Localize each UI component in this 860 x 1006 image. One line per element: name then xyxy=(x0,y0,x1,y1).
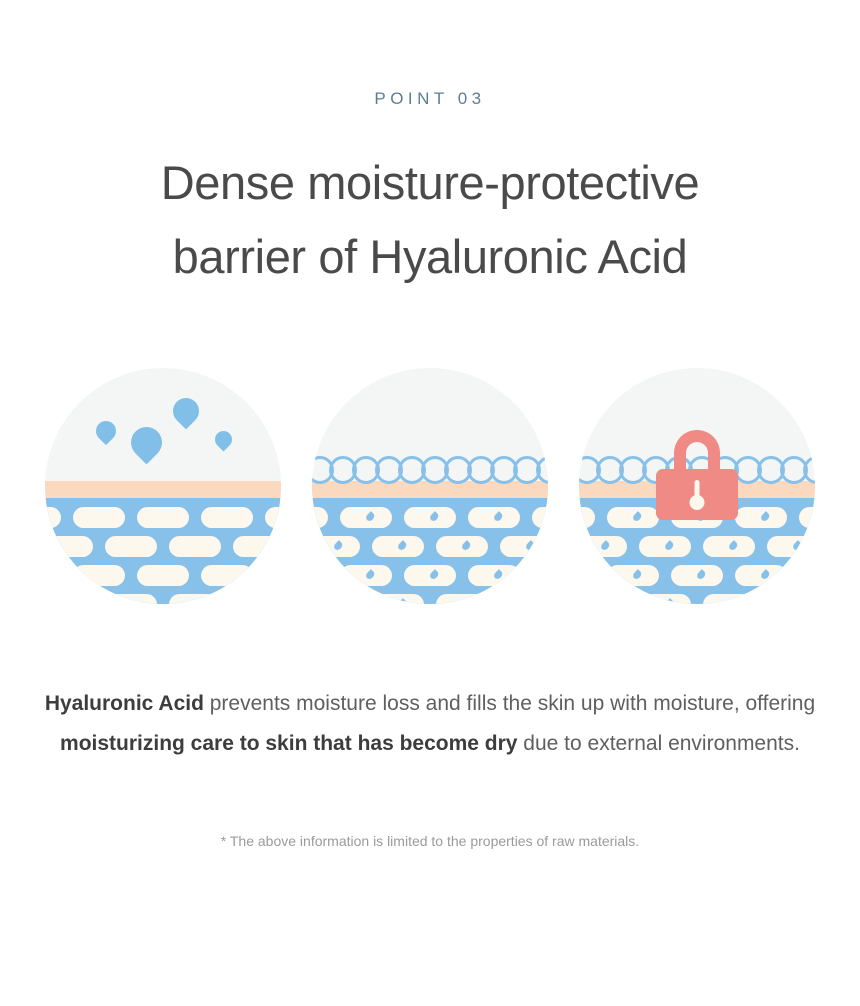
skin-cell xyxy=(579,565,595,586)
moisture-droplet-icon xyxy=(728,598,739,604)
skin-cell xyxy=(201,507,253,528)
skin-cell xyxy=(404,565,456,586)
moisture-droplet-icon xyxy=(397,598,408,604)
lock-keyhole xyxy=(690,495,705,510)
water-droplet-icon xyxy=(168,393,205,430)
skin-cell-row xyxy=(45,565,281,586)
moisture-droplet-icon xyxy=(792,598,803,604)
skin-cell xyxy=(532,507,548,528)
headline-line-1: Dense moisture-protective xyxy=(0,146,860,220)
water-droplet-icon xyxy=(92,417,120,445)
skin-cell xyxy=(607,507,659,528)
skin-cell xyxy=(372,536,424,557)
skin-cell xyxy=(372,594,424,604)
skin-cell-row xyxy=(312,594,548,604)
body-segment-0: Hyaluronic Acid xyxy=(45,692,204,715)
skin-cell xyxy=(201,565,253,586)
skin-cell xyxy=(73,565,125,586)
skin-cell xyxy=(312,565,328,586)
skin-cell xyxy=(639,594,691,604)
skin-cell xyxy=(340,565,392,586)
skin-cell xyxy=(137,507,189,528)
skin-cell xyxy=(45,594,93,604)
skin-cell xyxy=(312,536,360,557)
footnote-disclaimer: * The above information is limited to th… xyxy=(0,833,860,849)
product-detail-panel: POINT 03 Dense moisture-protective barri… xyxy=(0,0,860,1006)
skin-cell xyxy=(73,507,125,528)
skin-cell xyxy=(468,507,520,528)
skin-cell xyxy=(735,507,787,528)
headline-line-2: barrier of Hyaluronic Acid xyxy=(0,220,860,294)
moisture-droplet-icon xyxy=(365,511,376,522)
skin-cell xyxy=(105,536,157,557)
skin-cell-row xyxy=(312,565,548,586)
body-segment-2: moisturizing care to skin that has becom… xyxy=(60,732,517,755)
body-description: Hyaluronic Acid prevents moisture loss a… xyxy=(0,684,860,764)
skin-cell-row xyxy=(579,536,815,557)
moisture-droplet-icon xyxy=(461,598,472,604)
figure-locked xyxy=(579,368,815,604)
skin-cell-row xyxy=(312,507,548,528)
moisture-droplet-icon xyxy=(429,569,440,580)
skin-cell xyxy=(137,565,189,586)
hyaluronic-acid-chain xyxy=(312,456,548,484)
moisture-droplet-icon xyxy=(333,540,344,551)
moisture-droplet-icon xyxy=(525,540,536,551)
skin-cell xyxy=(436,536,488,557)
skin-cell xyxy=(767,536,815,557)
moisture-droplet-icon xyxy=(600,540,611,551)
moisture-droplet-icon xyxy=(792,540,803,551)
body-segment-1: prevents moisture loss and fills the ski… xyxy=(204,692,815,715)
skin-cell-row xyxy=(579,594,815,604)
skin-cell xyxy=(340,507,392,528)
moisture-droplet-icon xyxy=(696,569,707,580)
moisture-droplet-icon xyxy=(397,540,408,551)
skin-cell xyxy=(233,536,281,557)
skin-cell xyxy=(703,594,755,604)
moisture-droplet-icon xyxy=(632,569,643,580)
skin-cell xyxy=(169,536,221,557)
skin-cell xyxy=(45,536,93,557)
skin-cell xyxy=(312,507,328,528)
moisture-droplet-icon xyxy=(493,569,504,580)
skin-surface-band xyxy=(45,481,281,498)
moisture-droplet-icon xyxy=(664,540,675,551)
moisture-droplet-icon xyxy=(760,511,771,522)
skin-cell xyxy=(639,536,691,557)
skin-cell xyxy=(607,565,659,586)
figure-droplets xyxy=(45,368,281,604)
skin-cell xyxy=(169,594,221,604)
moisture-droplet-icon xyxy=(365,569,376,580)
skin-cell-row xyxy=(45,536,281,557)
lock-icon xyxy=(656,430,738,520)
skin-cell xyxy=(579,507,595,528)
skin-cell xyxy=(436,594,488,604)
skin-cell xyxy=(767,594,815,604)
skin-cell-row xyxy=(45,594,281,604)
skin-cell xyxy=(579,536,627,557)
skin-cell xyxy=(500,536,548,557)
skin-cell xyxy=(799,565,815,586)
skin-cell xyxy=(671,565,723,586)
moisture-droplet-icon xyxy=(525,598,536,604)
skin-cell-row xyxy=(579,565,815,586)
skin-cell xyxy=(265,507,281,528)
moisture-droplet-icon xyxy=(429,511,440,522)
illustration-row xyxy=(45,368,815,604)
water-droplet-icon xyxy=(211,427,235,451)
skin-cell xyxy=(735,565,787,586)
skin-cell xyxy=(404,507,456,528)
skin-cell xyxy=(500,594,548,604)
skin-cell-row xyxy=(312,536,548,557)
moisture-droplet-icon xyxy=(461,540,472,551)
page-title: Dense moisture-protective barrier of Hya… xyxy=(0,146,860,294)
skin-cell xyxy=(579,594,627,604)
skin-cell xyxy=(265,565,281,586)
skin-cell-row xyxy=(45,507,281,528)
skin-cell xyxy=(799,507,815,528)
lock-body xyxy=(656,469,738,520)
moisture-droplet-icon xyxy=(728,540,739,551)
moisture-droplet-icon xyxy=(333,598,344,604)
skin-cell xyxy=(45,565,61,586)
water-droplet-icon xyxy=(125,421,169,465)
figure-barrier xyxy=(312,368,548,604)
skin-cell xyxy=(312,594,360,604)
skin-cell xyxy=(233,594,281,604)
moisture-droplet-icon xyxy=(760,569,771,580)
moisture-droplet-icon xyxy=(493,511,504,522)
moisture-droplet-icon xyxy=(632,511,643,522)
skin-cell xyxy=(703,536,755,557)
point-eyebrow-label: POINT 03 xyxy=(0,89,860,109)
moisture-droplet-icon xyxy=(600,598,611,604)
moisture-droplet-icon xyxy=(664,598,675,604)
skin-cell xyxy=(45,507,61,528)
skin-cell xyxy=(468,565,520,586)
body-segment-3: due to external environments. xyxy=(517,732,800,755)
skin-cell xyxy=(532,565,548,586)
skin-cell xyxy=(105,594,157,604)
